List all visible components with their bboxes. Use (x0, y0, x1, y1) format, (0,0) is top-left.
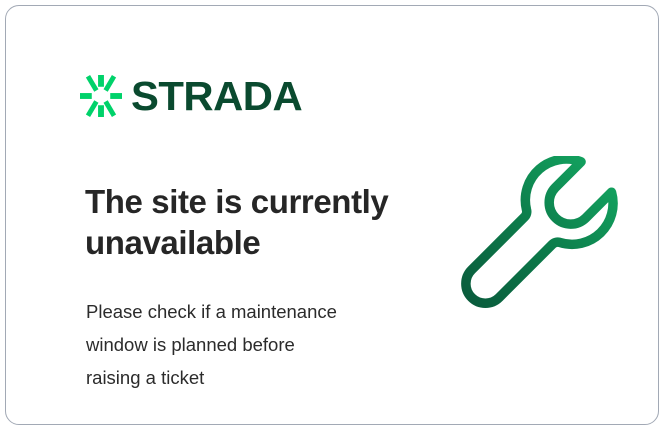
brand-lockup: STRADA (80, 72, 299, 120)
headline-line-2: unavailable (85, 222, 425, 263)
error-page: STRADA The site is currently unavailable… (0, 0, 666, 436)
body-line-1: Please check if a maintenance (86, 295, 416, 328)
wrench-icon (458, 156, 623, 321)
page-description: Please check if a maintenance window is … (86, 295, 416, 394)
body-line-2: window is planned before (86, 328, 416, 361)
headline-line-1: The site is currently (85, 181, 425, 222)
brand-wordmark: STRADA (131, 76, 302, 117)
message-card: STRADA The site is currently unavailable… (5, 5, 659, 425)
page-title: The site is currently unavailable (85, 181, 425, 264)
strada-asterisk-icon (80, 75, 122, 117)
body-line-3: raising a ticket (86, 361, 416, 394)
